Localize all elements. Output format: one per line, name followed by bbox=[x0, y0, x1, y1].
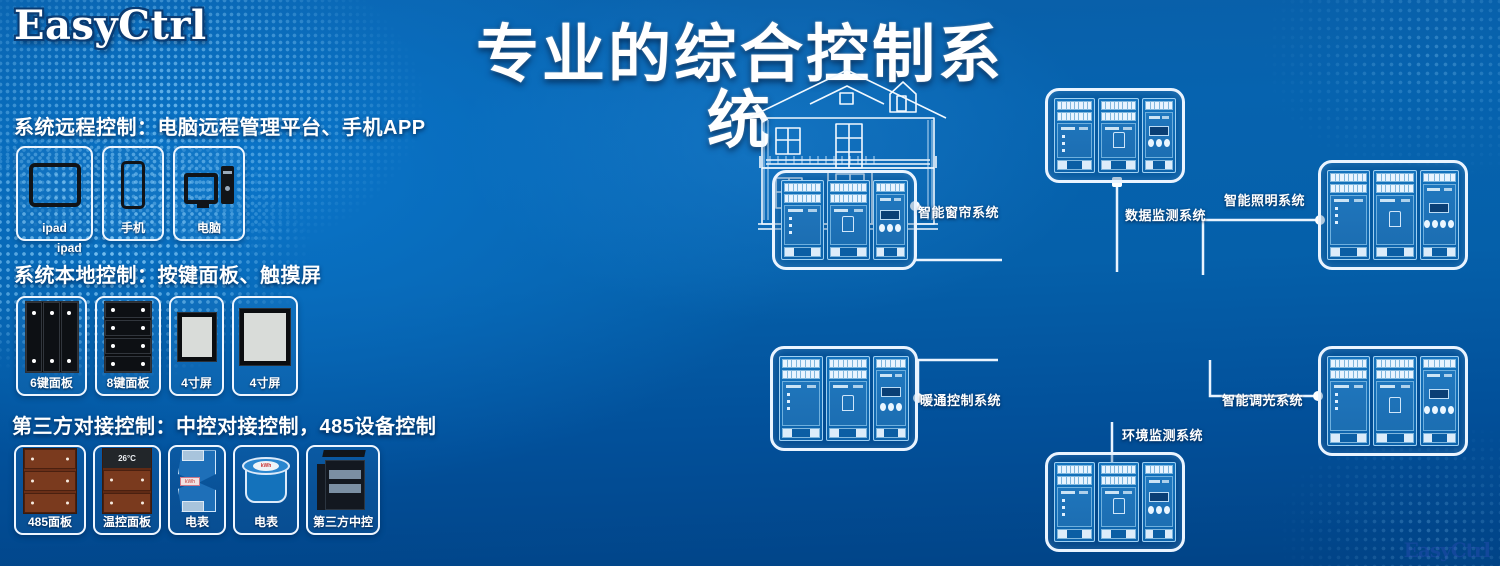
device-card-round-meter[interactable]: kWh 电表 bbox=[233, 445, 299, 535]
round-meter-icon: kWh bbox=[235, 447, 297, 516]
thermostat-panel-icon: 26°C bbox=[95, 447, 159, 516]
device-row-third-party: 485面板 26°C 温控面板 kWh 电表 bbox=[14, 445, 380, 535]
watermark: EasyCtrl bbox=[1404, 538, 1490, 562]
device-card-touchscreen-small[interactable]: 4寸屏 bbox=[169, 296, 224, 396]
meter-tag: kWh bbox=[180, 477, 200, 486]
rs485-panel-icon bbox=[16, 447, 84, 516]
device-row-local-control: 6键面板 8键面板 4寸屏 4寸屏 bbox=[16, 296, 298, 396]
device-card-ipad[interactable]: ipad bbox=[16, 146, 93, 241]
device-card-third-party-controller[interactable]: 第三方中控 bbox=[306, 445, 380, 535]
device-label: 4寸屏 bbox=[181, 377, 212, 390]
six-key-panel-icon bbox=[18, 298, 85, 377]
diagram-label-curtain: 智能窗帘系统 bbox=[918, 202, 999, 221]
device-card-rs485-panel[interactable]: 485面板 bbox=[14, 445, 86, 535]
ipad-extra-caption: ipad bbox=[57, 241, 82, 255]
system-topology-diagram: 智能窗帘系统 数据监测系统 智能照明系统 暖通控制系统 环境监测系统 智能调光系… bbox=[740, 60, 1500, 566]
diagram-label-environment: 环境监测系统 bbox=[1122, 425, 1203, 444]
smartphone-icon bbox=[104, 148, 162, 222]
diagram-label-lighting: 智能照明系统 bbox=[1224, 190, 1305, 209]
diagram-label-data: 数据监测系统 bbox=[1125, 205, 1206, 224]
touchscreen-large-icon bbox=[234, 298, 296, 377]
device-label: 485面板 bbox=[28, 516, 72, 529]
third-party-controller-icon bbox=[308, 447, 378, 516]
tablet-icon bbox=[18, 148, 91, 222]
device-card-thermostat-panel[interactable]: 26°C 温控面板 bbox=[93, 445, 161, 535]
diagram-label-hvac: 暖通控制系统 bbox=[920, 390, 1001, 409]
section-heading-local-control: 系统本地控制：按键面板、触摸屏 bbox=[14, 259, 322, 288]
device-card-six-key-panel[interactable]: 6键面板 bbox=[16, 296, 87, 396]
module-card-dimming[interactable] bbox=[1318, 346, 1468, 456]
diagram-label-dimming: 智能调光系统 bbox=[1222, 390, 1303, 409]
module-card-data[interactable] bbox=[1045, 88, 1185, 183]
device-row-remote-control: ipad 手机 电脑 bbox=[16, 146, 245, 241]
module-card-environment[interactable] bbox=[1045, 452, 1185, 552]
thermostat-display: 26°C bbox=[103, 449, 151, 468]
eight-key-panel-icon bbox=[97, 298, 159, 377]
module-card-curtain[interactable] bbox=[772, 170, 917, 270]
device-label: 电表 bbox=[185, 516, 209, 529]
device-label: 温控面板 bbox=[103, 516, 151, 529]
device-card-touchscreen-large[interactable]: 4寸屏 bbox=[232, 296, 298, 396]
device-card-phone[interactable]: 手机 bbox=[102, 146, 164, 241]
device-label: 8键面板 bbox=[107, 377, 150, 390]
device-label: 电表 bbox=[254, 516, 278, 529]
device-label: 手机 bbox=[121, 222, 145, 235]
section-heading-third-party: 第三方对接控制：中控对接控制，485设备控制 bbox=[12, 410, 436, 439]
section-heading-remote-control: 系统远程控制：电脑远程管理平台、手机APP bbox=[14, 111, 426, 140]
poster-canvas: EasyCtrl 专业的综合控制系统 系统远程控制：电脑远程管理平台、手机APP… bbox=[0, 0, 1500, 566]
device-card-breaker-meter[interactable]: kWh 电表 bbox=[168, 445, 226, 535]
breaker-meter-icon: kWh bbox=[170, 447, 224, 516]
device-label: 电脑 bbox=[197, 222, 221, 235]
device-label: 4寸屏 bbox=[250, 377, 281, 390]
device-label: 第三方中控 bbox=[313, 516, 373, 529]
device-label: 6键面板 bbox=[30, 377, 73, 390]
module-card-lighting[interactable] bbox=[1318, 160, 1468, 270]
device-label: ipad bbox=[42, 222, 67, 235]
desktop-computer-icon bbox=[175, 148, 243, 222]
touchscreen-small-icon bbox=[171, 298, 222, 377]
device-card-computer[interactable]: 电脑 bbox=[173, 146, 245, 241]
brand-logo: EasyCtrl bbox=[14, 2, 207, 49]
device-card-eight-key-panel[interactable]: 8键面板 bbox=[95, 296, 161, 396]
module-card-hvac[interactable] bbox=[770, 346, 918, 451]
